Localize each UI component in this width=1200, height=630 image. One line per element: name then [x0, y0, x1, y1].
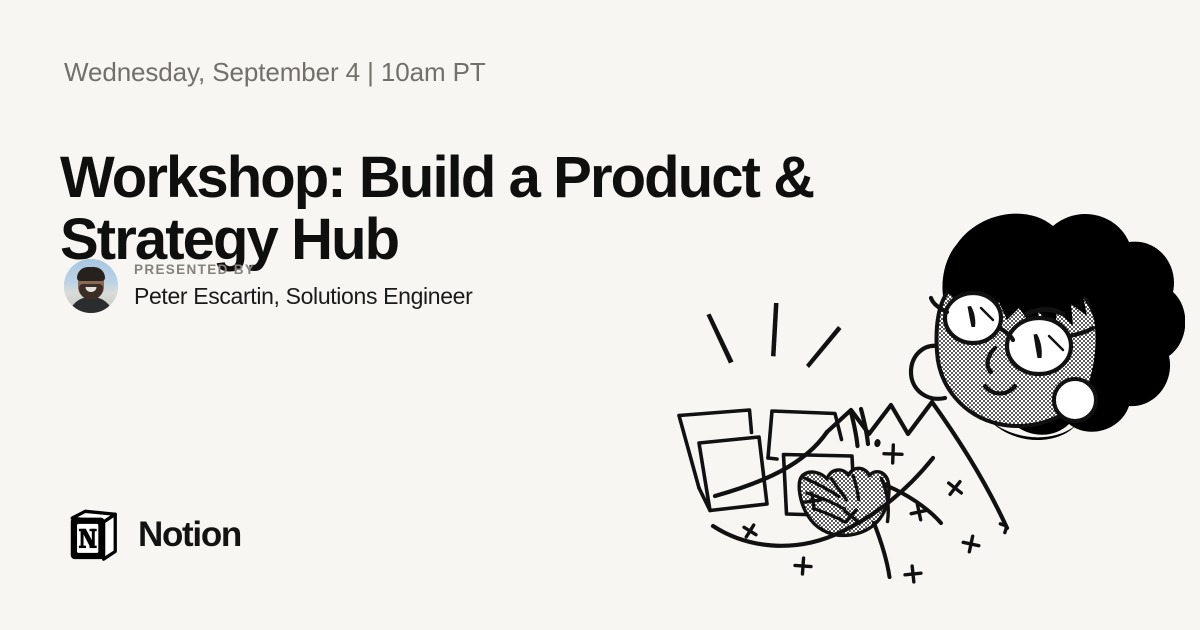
page-title: Workshop: Build a Product & Strategy Hub: [60, 147, 920, 271]
head-group: [911, 214, 1185, 440]
brand-lockup: Notion: [64, 506, 241, 564]
event-date-time: Wednesday, September 4 | 10am PT: [64, 57, 486, 88]
notion-wordmark: Notion: [138, 515, 241, 555]
presenter-row: PRESENTED BY Peter Escartin, Solutions E…: [64, 259, 472, 313]
earring-bead: [1054, 379, 1096, 421]
avatar-hair: [77, 267, 105, 281]
presenter-name: Peter Escartin, Solutions Engineer: [134, 283, 472, 310]
presented-by-label: PRESENTED BY: [134, 262, 472, 277]
notion-cube-icon: [64, 506, 122, 564]
avatar: [64, 259, 118, 313]
event-title-line-1: Workshop: Build a Product &: [60, 147, 920, 209]
event-promo-card: Wednesday, September 4 | 10am PT Worksho…: [0, 0, 1200, 630]
presenter-text-block: PRESENTED BY Peter Escartin, Solutions E…: [134, 262, 472, 310]
event-details-column: Wednesday, September 4 | 10am PT Worksho…: [64, 0, 904, 630]
